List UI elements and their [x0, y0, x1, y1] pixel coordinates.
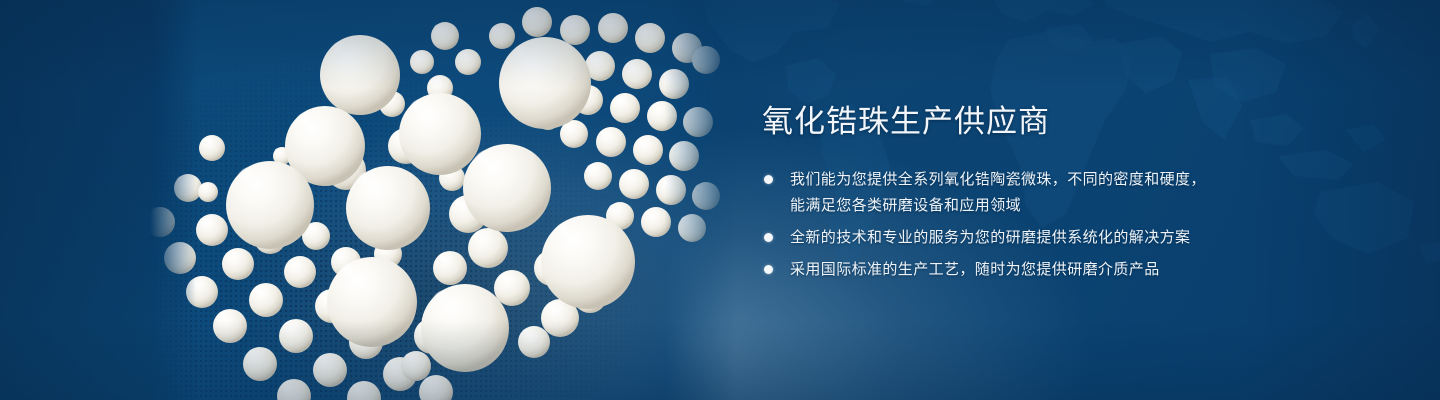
banner-headline: 氧化锆珠生产供应商 — [762, 104, 1232, 141]
bullet-item-3: 采用国际标准的生产工艺，随时为您提供研磨介质产品 — [762, 257, 1232, 282]
bullet-dot-icon — [764, 265, 773, 274]
bullet-dot-icon — [764, 233, 773, 242]
banner-bullet-list: 我们能为您提供全系列氧化锆陶瓷微珠，不同的密度和硬度， 能满足您各类研磨设备和应… — [762, 167, 1232, 282]
bullet-item-1: 我们能为您提供全系列氧化锆陶瓷微珠，不同的密度和硬度， 能满足您各类研磨设备和应… — [762, 167, 1232, 218]
bullet-line: 全新的技术和专业的服务为您的研磨提供系统化的解决方案 — [790, 225, 1232, 250]
bullet-line: 采用国际标准的生产工艺，随时为您提供研磨介质产品 — [790, 257, 1232, 282]
banner-copy: 氧化锆珠生产供应商 我们能为您提供全系列氧化锆陶瓷微珠，不同的密度和硬度， 能满… — [762, 104, 1232, 282]
bullet-line: 能满足您各类研磨设备和应用领域 — [790, 193, 1232, 218]
hero-banner: 氧化锆珠生产供应商 我们能为您提供全系列氧化锆陶瓷微珠，不同的密度和硬度， 能满… — [0, 0, 1440, 400]
bullet-dot-icon — [764, 175, 773, 184]
bullet-item-2: 全新的技术和专业的服务为您的研磨提供系统化的解决方案 — [762, 225, 1232, 250]
bullet-line: 我们能为您提供全系列氧化锆陶瓷微珠，不同的密度和硬度， — [790, 167, 1232, 192]
